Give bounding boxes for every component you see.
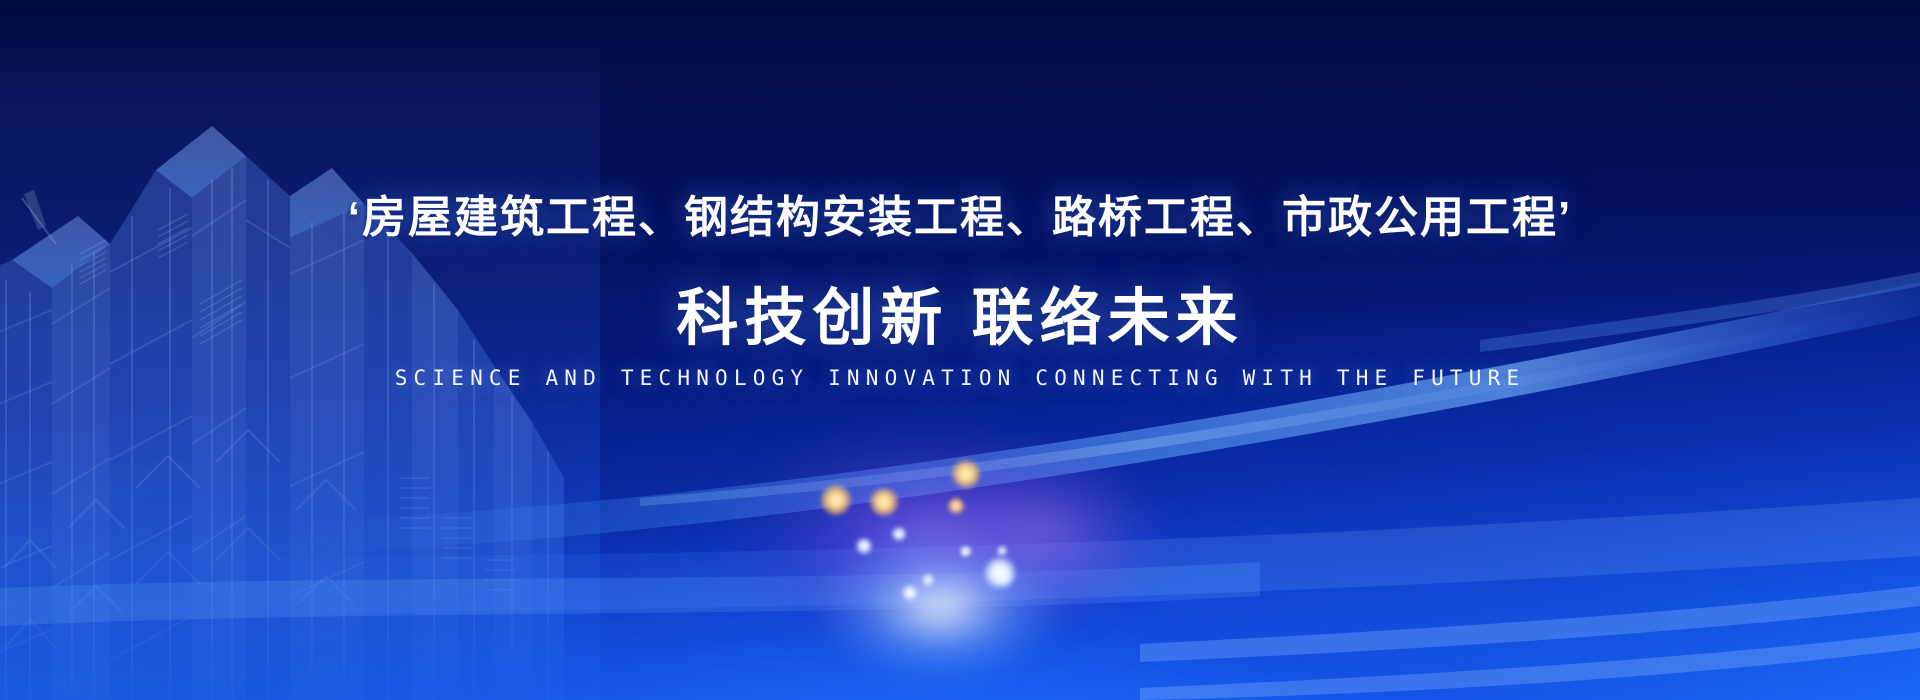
bokeh-dot-gold xyxy=(948,498,964,514)
promo-banner: ‘房屋建筑工程、钢结构安装工程、路桥工程、市政公用工程’ 科技创新 联络未来 S… xyxy=(0,0,1920,700)
bokeh-dot-gold xyxy=(821,485,851,515)
bokeh-dot-gold xyxy=(870,488,898,516)
headline-quote: ‘房屋建筑工程、钢结构安装工程、路桥工程、市政公用工程’ xyxy=(0,196,1920,240)
bokeh-dot-white xyxy=(922,574,934,586)
bokeh-dot-white xyxy=(902,585,918,601)
bokeh-dot-white xyxy=(961,548,969,556)
bokeh-dot-gold xyxy=(952,460,980,488)
subtitle-english: SCIENCE AND TECHNOLOGY INNOVATION CONNEC… xyxy=(0,368,1920,389)
bokeh-dot-white xyxy=(856,538,872,554)
white-light-burst xyxy=(760,520,1120,700)
headline-main: 科技创新 联络未来 xyxy=(0,288,1920,350)
bokeh-dot-white xyxy=(997,546,1007,556)
bokeh-dot-white xyxy=(984,557,1016,589)
bokeh-dot-white xyxy=(892,527,906,541)
